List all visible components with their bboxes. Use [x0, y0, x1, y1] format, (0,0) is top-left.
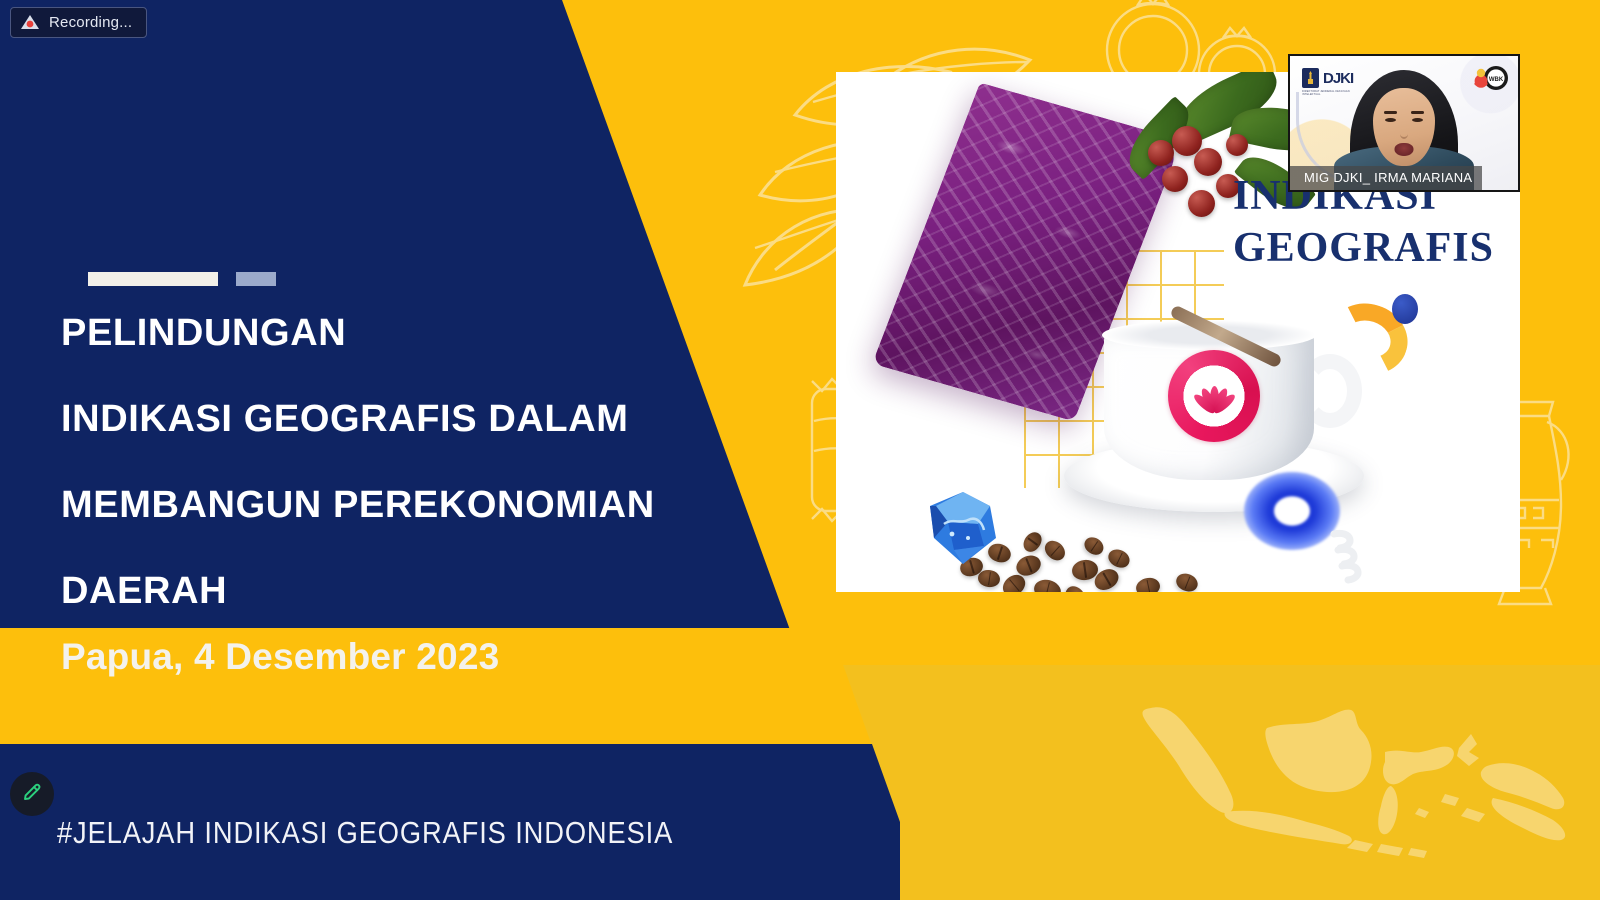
recording-indicator[interactable]: Recording...	[10, 7, 147, 38]
title-line-1: PELINDUNGAN	[61, 290, 741, 376]
accent-bar-secondary	[236, 272, 276, 286]
ministry-emblem-icon	[1302, 68, 1319, 88]
slide-hashtag: #JELAJAH INDIKASI GEOGRAFIS INDONESIA	[57, 815, 673, 851]
djki-caption: DIREKTORAT JENDERAL KEKAYAAN INTELEKTUAL	[1302, 90, 1358, 97]
title-line-3: MEMBANGUN PEREKONOMIAN	[61, 462, 741, 548]
record-icon	[20, 14, 40, 31]
indonesia-map-silhouette	[1055, 690, 1575, 880]
white-spiral	[1320, 524, 1370, 592]
webcam-thumbnail[interactable]: DJKI DIREKTORAT JENDERAL KEKAYAAN INTELE…	[1288, 54, 1520, 192]
slide-title: PELINDUNGAN INDIKASI GEOGRAFIS DALAM MEM…	[61, 290, 741, 634]
accent-bar-primary	[88, 272, 218, 286]
indikasi-geografis-logo	[1168, 350, 1260, 442]
screen-share-viewport: PELINDUNGAN INDIKASI GEOGRAFIS DALAM MEM…	[0, 0, 1600, 900]
svg-text:WBK: WBK	[1489, 77, 1504, 83]
pencil-icon	[21, 781, 43, 808]
title-accent-bars	[88, 272, 276, 286]
title-line-2: INDIKASI GEOGRAFIS DALAM	[61, 376, 741, 462]
recording-label: Recording...	[49, 14, 132, 31]
annotate-button[interactable]	[10, 772, 54, 816]
djki-logo: DJKI DIREKTORAT JENDERAL KEKAYAAN INTELE…	[1302, 68, 1358, 97]
participant-name-label: MIG DJKI_ IRMA MARIANA	[1290, 166, 1482, 190]
wbk-mascot-badge-icon: WBK	[1471, 65, 1509, 95]
title-line-4: DAERAH	[61, 548, 741, 634]
card-title-line-2: GEOGRAFIS	[1233, 222, 1494, 274]
blue-gemstone	[928, 490, 998, 566]
navy-dot-blob	[1392, 294, 1418, 324]
slide-subtitle-date: Papua, 4 Desember 2023	[61, 636, 499, 678]
djki-wordmark: DJKI	[1323, 70, 1353, 87]
